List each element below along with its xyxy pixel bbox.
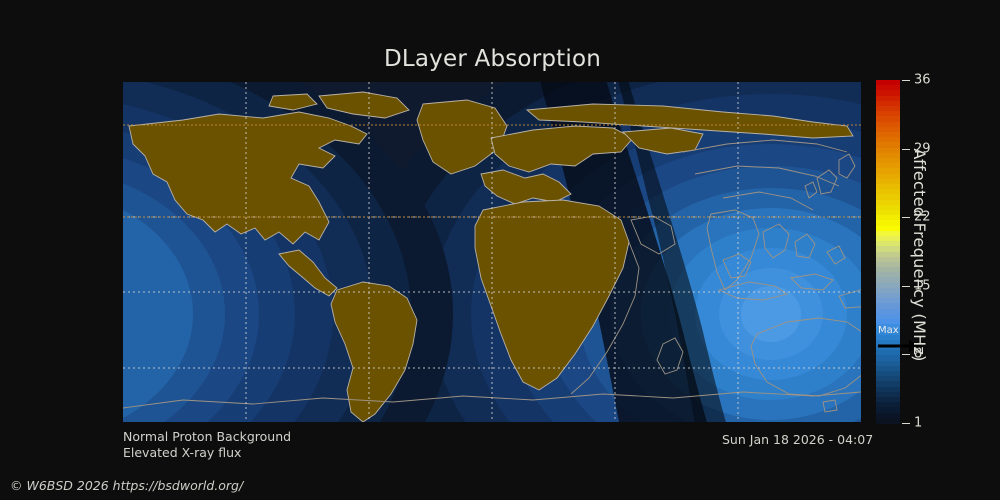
copyright-notice: © W6BSD 2026 https://bsdworld.org/: [10, 478, 243, 493]
map-canvas: [123, 82, 861, 422]
timestamp: Sun Jan 18 2026 - 04:07: [722, 432, 873, 447]
note-xray-flux: Elevated X-ray flux: [123, 445, 291, 461]
colorbar-ticks: 3629221581: [876, 60, 996, 450]
note-proton-background: Normal Proton Background: [123, 429, 291, 445]
world-map[interactable]: [123, 82, 861, 422]
page-root: DLayer Absorption: [0, 0, 1000, 500]
status-notes: Normal Proton Background Elevated X-ray …: [123, 429, 291, 461]
colorbar-axis-label: Affected Frequency (MHz): [906, 60, 932, 450]
page-title: DLayer Absorption: [0, 46, 985, 72]
